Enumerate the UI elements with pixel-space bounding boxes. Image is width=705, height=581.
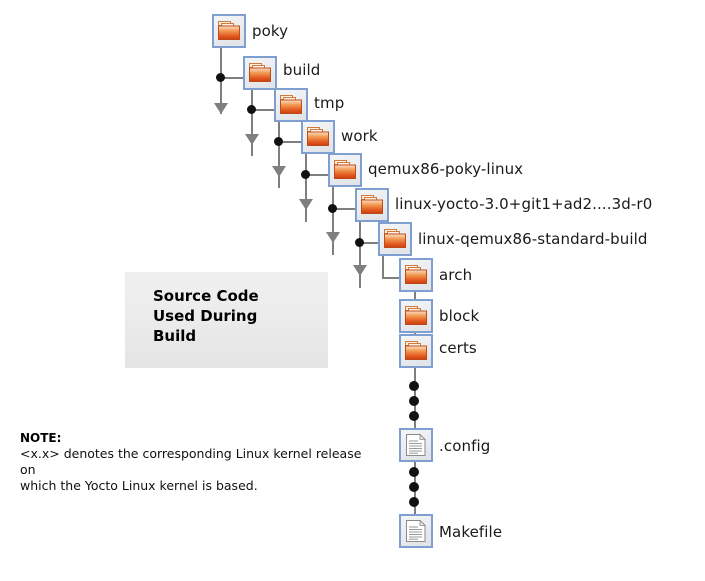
note-title: NOTE: [20, 431, 380, 446]
folder-icon [332, 157, 358, 183]
ellipsis-dot-3 [409, 411, 419, 421]
node-makefile[interactable] [399, 514, 433, 548]
node-label-block: block [439, 308, 479, 324]
callout-text: Source Code Used During Build [153, 286, 259, 346]
node-work[interactable] [301, 120, 335, 154]
folder-icon [305, 124, 331, 150]
node-arch[interactable] [399, 258, 433, 292]
branch-dot-poky [216, 73, 225, 82]
node-label-arch: arch [439, 267, 472, 283]
node-label-work: work [341, 128, 378, 144]
connector-qemux86-down [332, 187, 334, 255]
arrow-yocto [353, 265, 367, 276]
node-linux-qemux86-standard-build[interactable] [378, 222, 412, 256]
folder-icon [247, 60, 273, 86]
node-label-build: build [283, 62, 320, 78]
folder-icon [403, 338, 429, 364]
node-label-qemux86-poky-linux: qemux86-poky-linux [368, 161, 523, 177]
node-config[interactable] [399, 428, 433, 462]
branch-dot-work [301, 170, 310, 179]
note-block: NOTE: <x.x> denotes the corresponding Li… [20, 431, 380, 494]
ellipsis-dot-2 [409, 396, 419, 406]
connector-tmp-down [278, 122, 280, 188]
callout-box: Source Code Used During Build [125, 272, 328, 368]
node-linux-yocto[interactable] [355, 188, 389, 222]
node-block[interactable] [399, 299, 433, 333]
connector-yocto-down [359, 222, 361, 288]
connector-work-down [305, 154, 307, 222]
folder-icon [359, 192, 385, 218]
node-certs[interactable] [399, 334, 433, 368]
node-label-poky: poky [252, 23, 288, 39]
node-label-certs: certs [439, 340, 477, 356]
folder-icon [382, 226, 408, 252]
arrow-poky [214, 103, 228, 114]
arrow-work [299, 199, 313, 210]
node-tmp[interactable] [274, 88, 308, 122]
connector-build-down [251, 90, 253, 156]
diagram-canvas: Source Code Used During Build poky [0, 0, 705, 581]
arrow-qemux86 [326, 232, 340, 243]
branch-dot-build [247, 105, 256, 114]
arrow-tmp [272, 166, 286, 177]
document-icon [403, 518, 429, 544]
node-label-makefile: Makefile [439, 524, 502, 540]
arrow-build [245, 134, 259, 145]
node-qemux86-poky-linux[interactable] [328, 153, 362, 187]
document-icon [403, 432, 429, 458]
connector-standard-down [382, 256, 384, 279]
node-poky[interactable] [212, 14, 246, 48]
branch-dot-tmp [274, 137, 283, 146]
node-label-tmp: tmp [314, 95, 344, 111]
ellipsis-dot-4 [409, 467, 419, 477]
folder-icon [278, 92, 304, 118]
folder-icon [216, 18, 242, 44]
node-build[interactable] [243, 56, 277, 90]
folder-icon [403, 303, 429, 329]
branch-dot-yocto [355, 238, 364, 247]
ellipsis-dot-5 [409, 482, 419, 492]
node-label-linux-yocto: linux-yocto-3.0+git1+ad2....3d-r0 [395, 196, 652, 212]
ellipsis-dot-1 [409, 381, 419, 391]
note-body: <x.x> denotes the corresponding Linux ke… [20, 446, 380, 494]
node-label-linux-qemux86-standard-build: linux-qemux86-standard-build [418, 231, 648, 247]
folder-icon [403, 262, 429, 288]
ellipsis-dot-6 [409, 497, 419, 507]
node-label-config: .config [439, 438, 490, 454]
branch-dot-qemux86 [328, 204, 337, 213]
